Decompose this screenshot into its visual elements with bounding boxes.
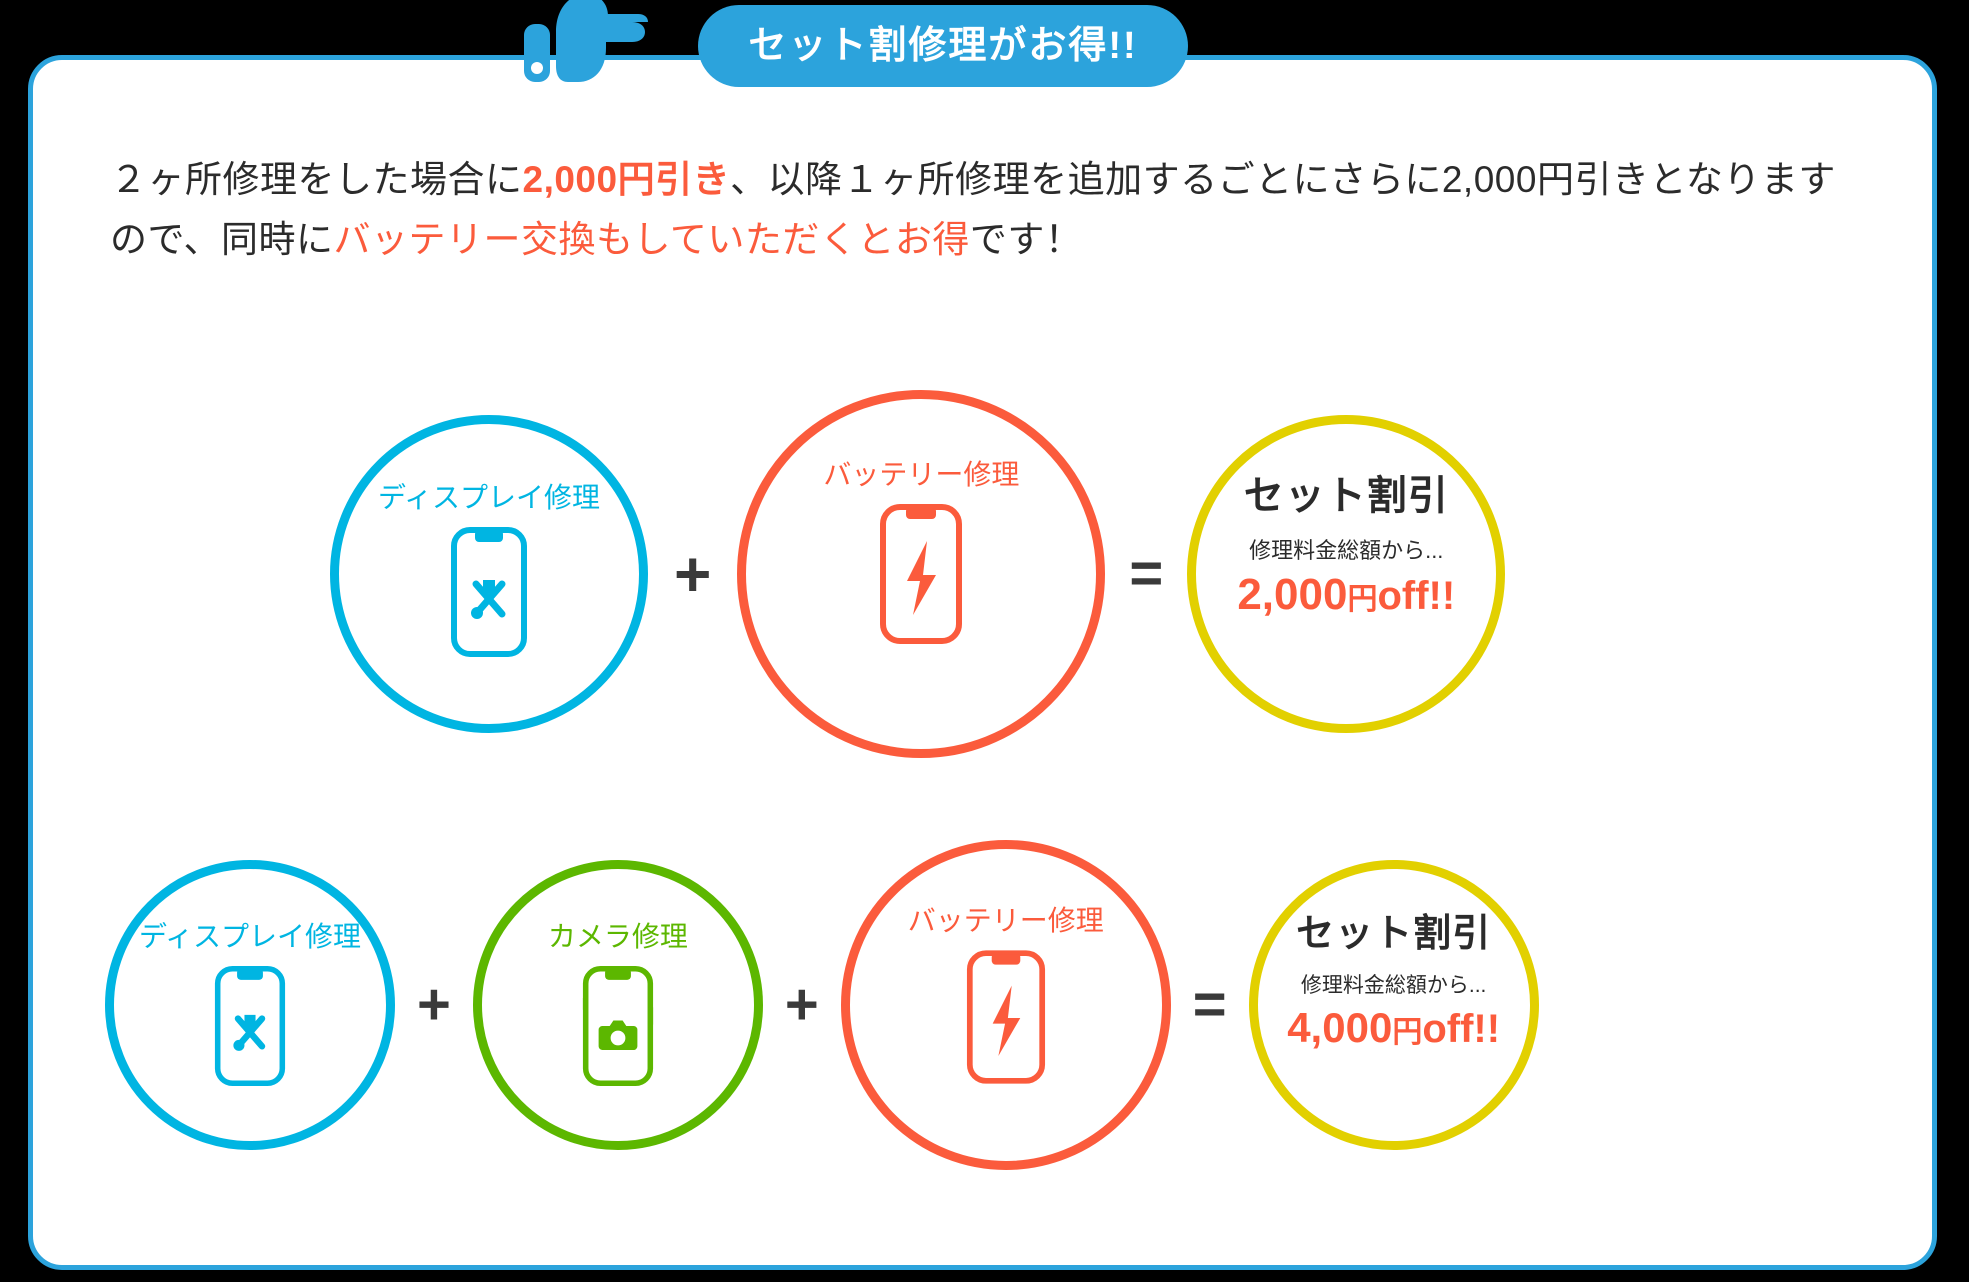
phone-bolt-icon bbox=[966, 949, 1046, 1085]
phone-wrench-icon bbox=[450, 526, 528, 658]
lead-segment-4: です！ bbox=[970, 219, 1083, 260]
circle-display-repair[interactable]: ディスプレイ修理 bbox=[105, 860, 395, 1150]
operator-plus: + bbox=[674, 542, 711, 606]
operator-plus: + bbox=[417, 976, 451, 1034]
page-background: セット割修理がお得!! ２ヶ所修理をした場合に2,000円引き、以降１ヶ所修理を… bbox=[0, 0, 1969, 1282]
result-amount: 2,000円off!! bbox=[1237, 572, 1455, 618]
result-amount: 4,000円off!! bbox=[1287, 1006, 1500, 1050]
circle-set-discount[interactable]: セット割引 修理料金総額から... 4,000円off!! bbox=[1249, 860, 1539, 1150]
lead-segment-2: 、以降１ヶ所修理を追加するごとにさらに2,000円引きとなり bbox=[730, 159, 1761, 200]
circle-display-repair[interactable]: ディスプレイ修理 bbox=[330, 415, 648, 733]
lead-paragraph: ２ヶ所修理をした場合に2,000円引き、以降１ヶ所修理を追加するごとにさらに2,… bbox=[110, 150, 1850, 270]
operator-equals: = bbox=[1129, 545, 1163, 603]
result-amount-value: 2,000 bbox=[1237, 570, 1347, 619]
circle-label: カメラ修理 bbox=[548, 923, 688, 951]
lead-highlight-1: 2,000円引き bbox=[523, 159, 731, 200]
result-title: セット割引 bbox=[1296, 915, 1491, 953]
result-amount-value: 4,000 bbox=[1287, 1004, 1392, 1051]
result-amount-suffix: off!! bbox=[1377, 574, 1455, 618]
header-badge: セット割修理がお得!! bbox=[698, 5, 1188, 87]
circle-battery-repair[interactable]: バッテリー修理 bbox=[737, 390, 1105, 758]
result-amount-unit: 円 bbox=[1392, 1016, 1422, 1049]
result-amount-unit: 円 bbox=[1347, 583, 1377, 616]
equation-row-2: ディスプレイ修理 + カメラ修理 + bbox=[105, 840, 1539, 1170]
result-title: セット割引 bbox=[1244, 476, 1449, 516]
result-subtitle: 修理料金総額から... bbox=[1249, 540, 1443, 562]
circle-set-discount[interactable]: セット割引 修理料金総額から... 2,000円off!! bbox=[1187, 415, 1505, 733]
phone-bolt-icon bbox=[879, 503, 963, 645]
circle-label: ディスプレイ修理 bbox=[139, 923, 361, 951]
result-subtitle: 修理料金総額から... bbox=[1301, 975, 1487, 996]
equation-row-1: ディスプレイ修理 + バッテリー修理 = セット割引 修理料金 bbox=[330, 390, 1505, 758]
result-amount-suffix: off!! bbox=[1422, 1007, 1500, 1051]
circle-label: バッテリー修理 bbox=[823, 461, 1019, 489]
circle-label: バッテリー修理 bbox=[908, 907, 1104, 935]
circle-label: ディスプレイ修理 bbox=[378, 484, 600, 512]
circle-battery-repair[interactable]: バッテリー修理 bbox=[841, 840, 1171, 1170]
operator-equals: = bbox=[1193, 976, 1227, 1034]
operator-plus: + bbox=[785, 976, 819, 1034]
lead-highlight-2: バッテリー交換もしていただくとお得 bbox=[334, 219, 970, 260]
pointing-hand-icon bbox=[520, 0, 650, 84]
header-badge-label: セット割修理がお得!! bbox=[748, 27, 1137, 65]
lead-segment-1: ２ヶ所修理をした場合に bbox=[110, 159, 523, 200]
phone-wrench-icon bbox=[214, 965, 286, 1087]
circle-camera-repair[interactable]: カメラ修理 bbox=[473, 860, 763, 1150]
phone-camera-icon bbox=[582, 965, 654, 1087]
